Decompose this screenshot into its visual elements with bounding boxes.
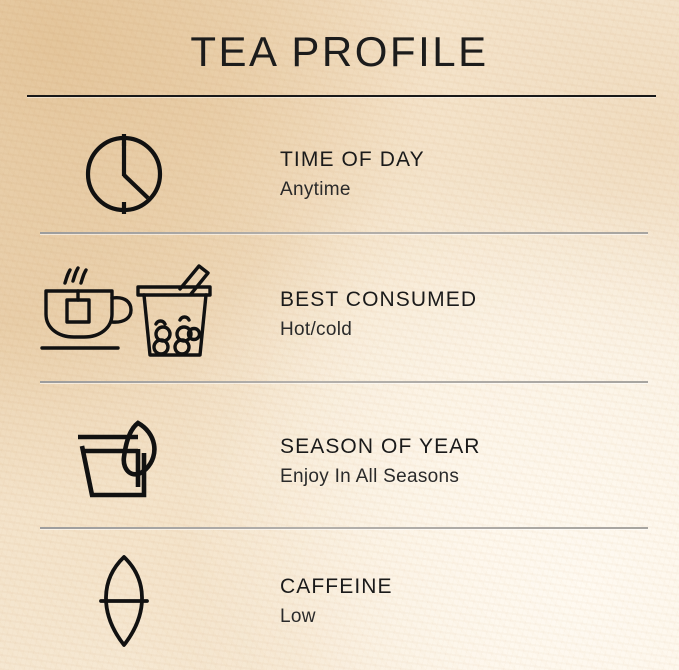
row-title: SEASON OF YEAR — [280, 435, 679, 458]
row-title: TIME OF DAY — [280, 148, 679, 171]
row-title: CAFFEINE — [280, 575, 679, 598]
tea-profile-card: TEA PROFILE TIME OF DAY Anytime — [0, 0, 679, 670]
caffeine-leaf-icon — [0, 541, 248, 661]
cup-with-leaf-icon — [0, 401, 248, 521]
clock-icon — [0, 114, 248, 234]
profile-row-text: BEST CONSUMED Hot/cold — [248, 288, 679, 341]
hot-and-cold-drink-icon — [0, 254, 248, 374]
profile-row-time-of-day: TIME OF DAY Anytime — [0, 108, 679, 240]
row-value: Hot/cold — [280, 320, 679, 341]
profile-row-text: SEASON OF YEAR Enjoy In All Seasons — [248, 435, 679, 488]
divider — [40, 232, 648, 234]
profile-row-season-of-year: SEASON OF YEAR Enjoy In All Seasons — [0, 395, 679, 527]
row-value: Enjoy In All Seasons — [280, 467, 679, 488]
page-title: TEA PROFILE — [0, 28, 679, 76]
profile-row-text: TIME OF DAY Anytime — [248, 148, 679, 201]
row-title: BEST CONSUMED — [280, 288, 679, 311]
divider — [40, 381, 648, 383]
row-value: Anytime — [280, 180, 679, 201]
divider — [40, 527, 648, 529]
title-underline — [27, 95, 656, 97]
profile-row-caffeine: CAFFEINE Low — [0, 535, 679, 667]
profile-row-best-consumed: BEST CONSUMED Hot/cold — [0, 248, 679, 380]
row-value: Low — [280, 607, 679, 628]
profile-row-text: CAFFEINE Low — [248, 575, 679, 628]
